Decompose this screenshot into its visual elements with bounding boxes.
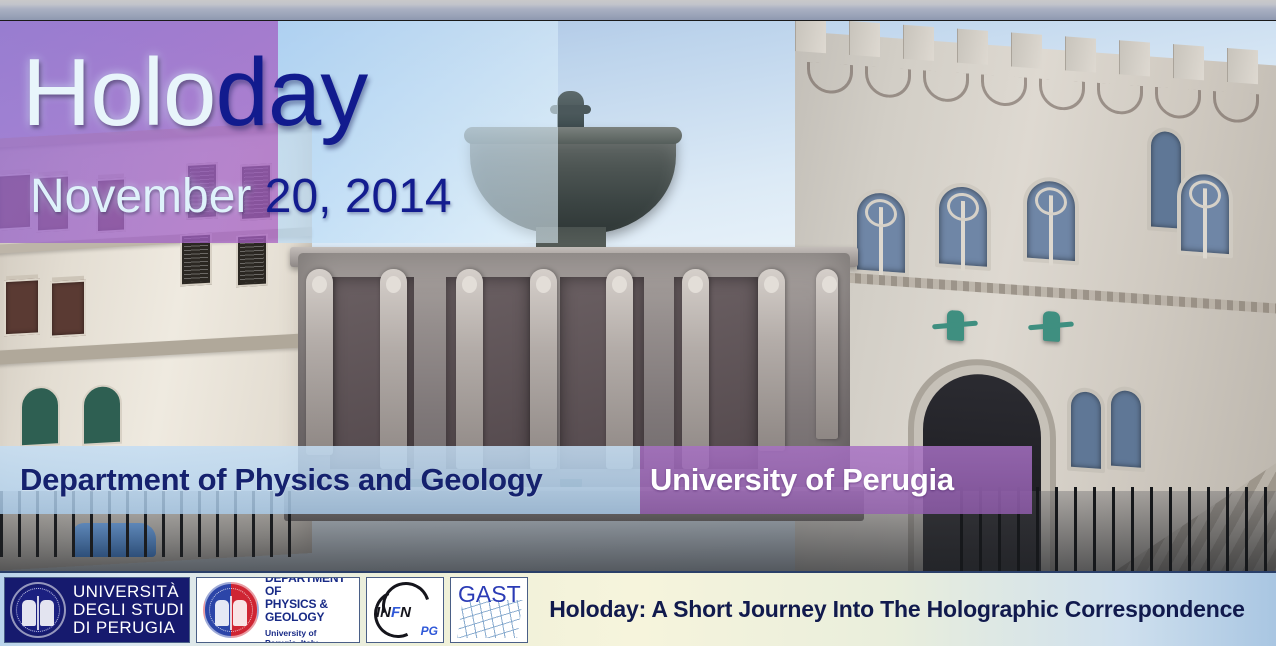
- dept-line-2: PHYSICS & GEOLOGY: [265, 598, 359, 624]
- carved-figure: [682, 269, 709, 469]
- carved-figure: [380, 269, 407, 469]
- carved-figure: [758, 269, 785, 451]
- unipg-logo[interactable]: UNIVERSITÀ DEGLI STUDI DI PERUGIA: [4, 577, 190, 643]
- carved-figure: [306, 269, 333, 455]
- date-month: November: [30, 170, 251, 223]
- bronze-lion-statue: [1043, 311, 1060, 342]
- dept-line-3a: University of: [265, 628, 359, 638]
- department-seal-icon: [203, 582, 259, 638]
- banner-university-section: University of Perugia: [640, 446, 1032, 514]
- footer-bar: UNIVERSITÀ DEGLI STUDI DI PERUGIA DEPART…: [0, 571, 1276, 646]
- gast-logo-text: GAST: [458, 581, 521, 608]
- title-part-holo: Holo: [22, 39, 215, 146]
- banner-university-text: University of Perugia: [640, 462, 954, 498]
- event-title: Holoday: [22, 45, 367, 141]
- sponsor-logos: UNIVERSITÀ DEGLI STUDI DI PERUGIA DEPART…: [0, 577, 528, 643]
- poster-screen: Department of Physics and Geology Univer…: [0, 0, 1276, 646]
- banner-department-text: Department of Physics and Geology: [0, 462, 542, 498]
- carved-figure: [606, 269, 633, 469]
- carved-figure: [530, 269, 557, 469]
- arched-window: [1107, 385, 1145, 472]
- date-day-year: 20, 2014: [265, 170, 452, 223]
- dept-line-1: DEPARTMENT OF: [265, 577, 359, 598]
- unipg-logo-text: UNIVERSITÀ DEGLI STUDI DI PERUGIA: [73, 583, 184, 637]
- department-logo[interactable]: DEPARTMENT OF PHYSICS & GEOLOGY Universi…: [196, 577, 360, 643]
- unipg-line-1: UNIVERSITÀ: [73, 583, 184, 601]
- footer-talk-title: Holoday: A Short Journey Into The Hologr…: [528, 596, 1276, 623]
- carved-figure: [456, 269, 483, 469]
- unipg-line-2: DEGLI STUDI: [73, 601, 184, 619]
- infn-site-code: PG: [421, 624, 438, 638]
- title-part-day: day: [215, 39, 367, 146]
- event-banner: Department of Physics and Geology Univer…: [0, 446, 1032, 514]
- carved-figure: [816, 269, 838, 439]
- infn-logo[interactable]: INFN PG: [366, 577, 444, 643]
- gothic-window: [1023, 175, 1079, 265]
- gothic-window: [935, 181, 991, 271]
- event-date: November 20, 2014: [30, 173, 452, 221]
- university-seal-icon: [10, 582, 66, 638]
- dept-line-3b: Perugia, Italy: [265, 638, 359, 643]
- infn-logo-text: INFN: [376, 604, 411, 621]
- window-chrome-bar: [0, 0, 1276, 21]
- unipg-line-3: DI PERUGIA: [73, 619, 184, 637]
- bronze-griffin-statue: [947, 310, 964, 341]
- gast-logo[interactable]: GAST: [450, 577, 528, 643]
- arched-window: [1067, 386, 1105, 473]
- gothic-window: [1177, 168, 1233, 258]
- department-logo-text: DEPARTMENT OF PHYSICS & GEOLOGY Universi…: [265, 577, 359, 643]
- banner-department-section: Department of Physics and Geology: [0, 446, 640, 514]
- poster-title-block: Holoday November 20, 2014: [0, 21, 560, 243]
